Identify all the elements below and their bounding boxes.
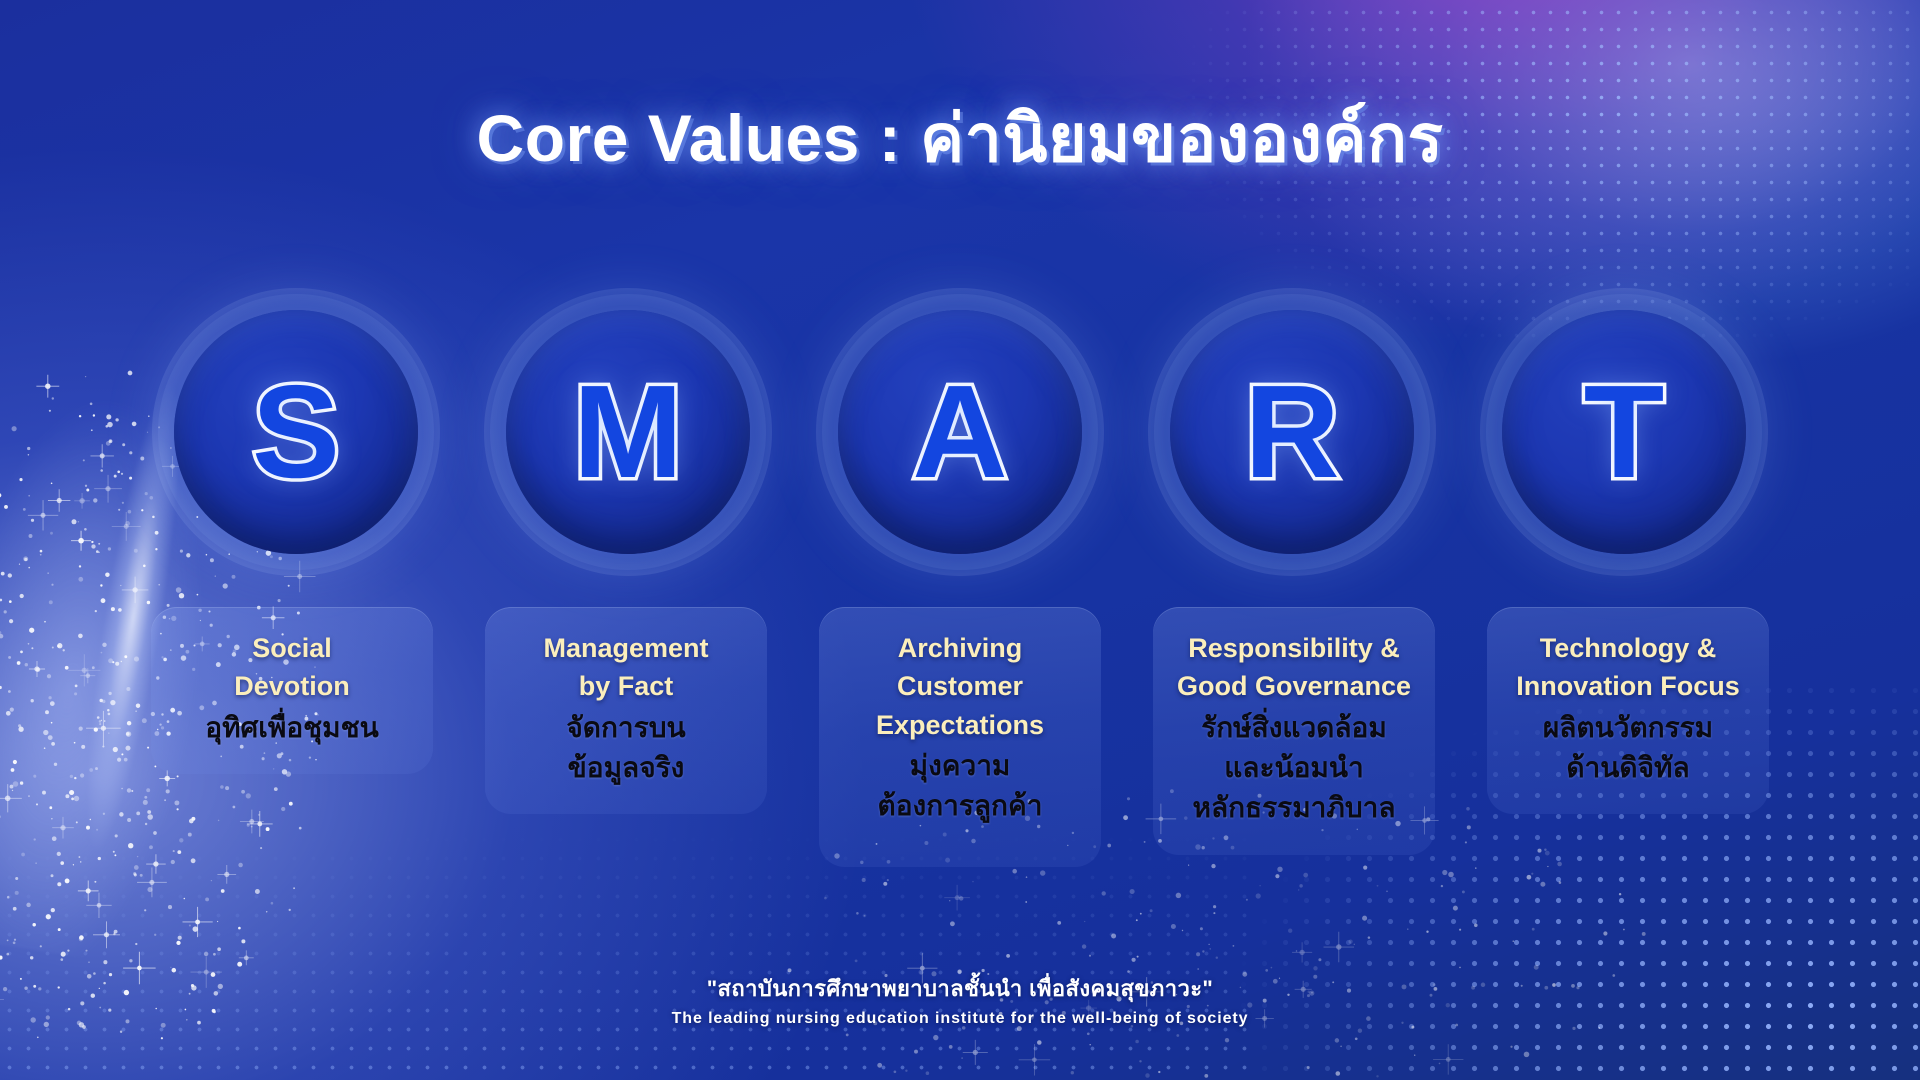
footer-container: "สถาบันการศึกษาพยาบาลชั้นนำ เพื่อสังคมสุ… — [0, 971, 1920, 1028]
letter-glyph-m: M — [573, 366, 683, 498]
value-card-management-by-fact[interactable]: Management by Fact จัดการบน ข้อมูลจริง — [485, 607, 767, 814]
slide-canvas: Core Values : ค่านิยมขององค์กร S M A R T… — [0, 0, 1920, 1080]
footer-vision-english: The leading nursing education institute … — [0, 1010, 1920, 1028]
letter-circle-a[interactable]: A — [838, 310, 1082, 554]
smart-letters-row: S M A R T — [0, 310, 1920, 554]
card-english-title: Social Devotion — [161, 629, 423, 706]
value-cards-row: Social Devotion อุทิศเพื่อชุมชน Manageme… — [0, 607, 1920, 867]
card-thai-title: รักษ์สิ่งแวดล้อม และน้อมนำ หลักธรรมาภิบา… — [1163, 708, 1425, 829]
footer-vision-thai: "สถาบันการศึกษาพยาบาลชั้นนำ เพื่อสังคมสุ… — [0, 971, 1920, 1006]
card-thai-title: ผลิตนวัตกรรม ด้านดิจิทัล — [1497, 708, 1759, 789]
letter-circle-t[interactable]: T — [1502, 310, 1746, 554]
value-card-responsibility-good-governance[interactable]: Responsibility & Good Governance รักษ์สิ… — [1153, 607, 1435, 855]
card-thai-title: อุทิศเพื่อชุมชน — [161, 708, 423, 748]
letter-circle-r[interactable]: R — [1170, 310, 1414, 554]
card-english-title: Technology & Innovation Focus — [1497, 629, 1759, 706]
card-thai-title: จัดการบน ข้อมูลจริง — [495, 708, 757, 789]
letter-circle-m[interactable]: M — [506, 310, 750, 554]
letter-glyph-t: T — [1584, 366, 1665, 498]
letter-glyph-a: A — [912, 366, 1007, 498]
halftone-dots-bottom-left — [0, 830, 1250, 1080]
card-english-title: Management by Fact — [495, 629, 757, 706]
card-thai-title: มุ่งความ ต้องการลูกค้า — [829, 746, 1091, 827]
letter-glyph-s: S — [252, 366, 340, 498]
title-container: Core Values : ค่านิยมขององค์กร — [0, 104, 1920, 173]
value-card-technology-innovation-focus[interactable]: Technology & Innovation Focus ผลิตนวัตกร… — [1487, 607, 1769, 814]
letter-glyph-r: R — [1244, 366, 1339, 498]
page-title: Core Values : ค่านิยมขององค์กร — [477, 104, 1444, 173]
card-english-title: Responsibility & Good Governance — [1163, 629, 1425, 706]
letter-circle-s[interactable]: S — [174, 310, 418, 554]
card-english-title: Archiving Customer Expectations — [829, 629, 1091, 744]
value-card-social-devotion[interactable]: Social Devotion อุทิศเพื่อชุมชน — [151, 607, 433, 774]
value-card-archiving-customer-expectations[interactable]: Archiving Customer Expectations มุ่งความ… — [819, 607, 1101, 867]
